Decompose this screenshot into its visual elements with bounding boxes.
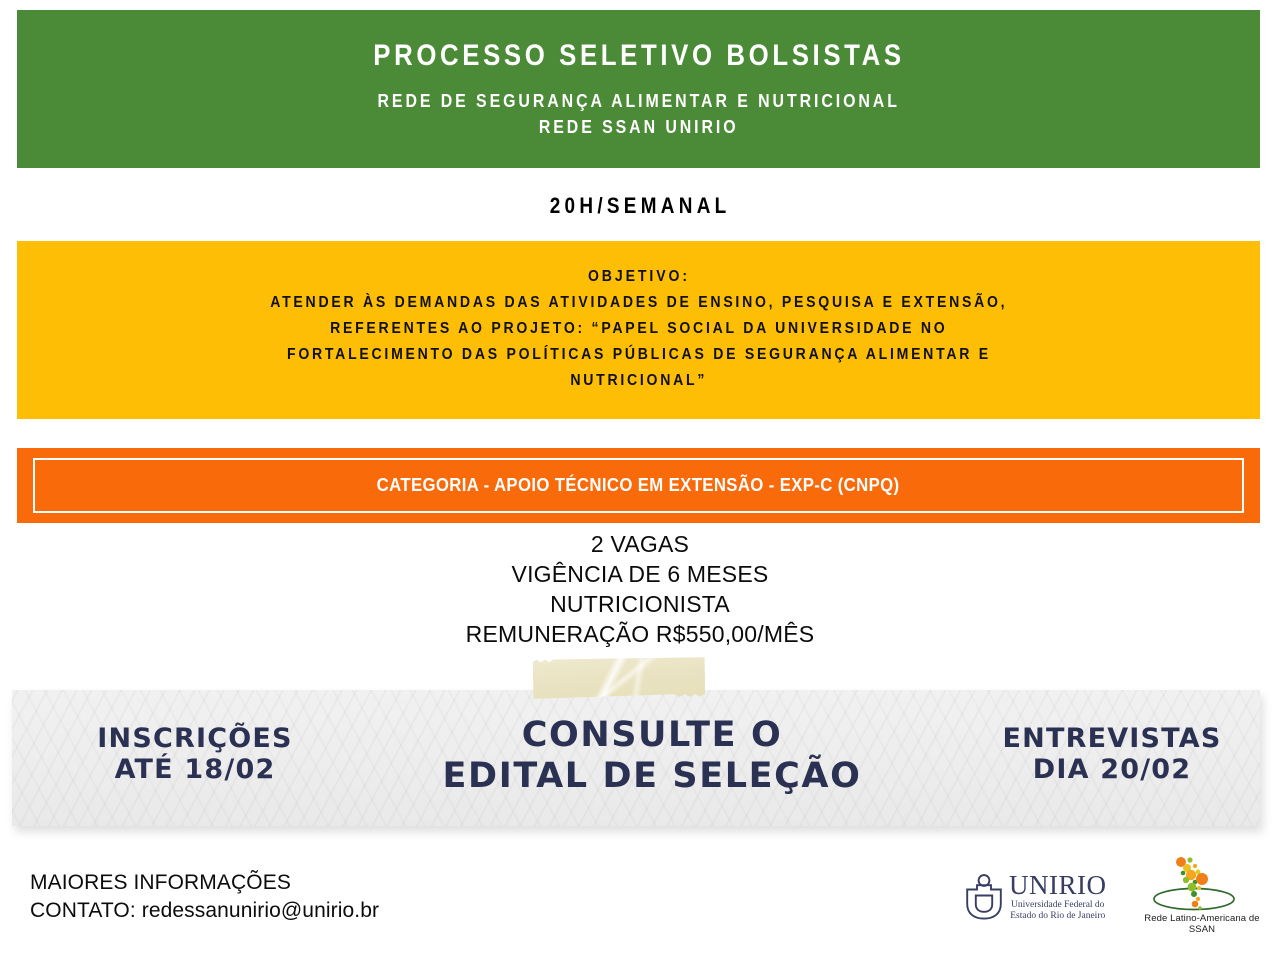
objective-body: ATENDER ÀS DEMANDAS DAS ATIVIDADES DE EN… — [220, 290, 1058, 394]
workload-label: 20H/SEMANAL — [0, 193, 1280, 219]
header-subtitle: REDE DE SEGURANÇA ALIMENTAR E NUTRICIONA… — [377, 88, 899, 141]
masking-tape-crease — [533, 657, 705, 699]
header-subtitle-line-2: REDE SSAN UNIRIO — [377, 114, 899, 140]
unirio-tagline-line-1: Universidade Federal do — [1009, 900, 1107, 911]
unirio-emblem-icon — [963, 873, 1005, 921]
footer-contact-block: MAIORES INFORMAÇÕES CONTATO: redessanuni… — [30, 869, 379, 926]
objective-line-4: NUTRICIONAL” — [220, 368, 1058, 394]
footer-more-info: MAIORES INFORMAÇÕES — [30, 869, 379, 897]
edital-callout-line-2: EDITAL DE SELEÇÃO — [442, 756, 862, 797]
interview-date: DIA 20/02 — [972, 754, 1252, 785]
header-subtitle-line-1: REDE DE SEGURANÇA ALIMENTAR E NUTRICIONA… — [377, 88, 899, 114]
unirio-tagline: Universidade Federal do Estado do Rio de… — [1009, 900, 1107, 922]
unirio-logo: UNIRIO Universidade Federal do Estado do… — [963, 866, 1113, 928]
unirio-tagline-line-2: Estado do Rio de Janeiro — [1009, 911, 1107, 922]
footer-contact-email: CONTATO: redessanunirio@unirio.br — [30, 897, 379, 925]
detail-role: NUTRICIONISTA — [0, 590, 1280, 620]
green-header-banner: PROCESSO SELETIVO BOLSISTAS REDE DE SEGU… — [17, 10, 1260, 168]
unirio-name: UNIRIO — [1009, 872, 1107, 899]
edital-callout-block[interactable]: CONSULTE O EDITAL DE SELEÇÃO — [442, 715, 862, 796]
detail-vacancies: 2 VAGAS — [0, 530, 1280, 560]
interview-label: ENTREVISTAS — [1003, 723, 1222, 754]
workload-text: 20H/SEMANAL — [550, 193, 731, 219]
detail-duration: VIGÊNCIA DE 6 MESES — [0, 560, 1280, 590]
objective-line-2: REFERENTES AO PROJETO: “PAPEL SOCIAL DA … — [220, 316, 1058, 342]
interview-block: ENTREVISTAS DIA 20/02 — [972, 723, 1252, 786]
masking-tape-icon — [533, 657, 705, 699]
category-banner-frame: CATEGORIA - APOIO TÉCNICO EM EXTENSÃO - … — [33, 458, 1244, 513]
objective-line-1: ATENDER ÀS DEMANDAS DAS ATIVIDADES DE EN… — [220, 290, 1058, 316]
registration-date: ATÉ 18/02 — [60, 754, 330, 785]
ssan-network-logo: Rede Latino-Americana de SSAN — [1132, 855, 1272, 935]
objective-label-text: OBJETIVO: — [587, 265, 689, 290]
objective-box: OBJETIVO: ATENDER ÀS DEMANDAS DAS ATIVID… — [17, 241, 1260, 419]
dates-paper-band: INSCRIÇÕES ATÉ 18/02 CONSULTE O EDITAL D… — [12, 690, 1260, 826]
detail-stipend: REMUNERAÇÃO R$550,00/MÊS — [0, 620, 1280, 650]
page-title: PROCESSO SELETIVO BOLSISTAS — [373, 38, 904, 74]
objective-line-3: FORTALECIMENTO DAS POLÍTICAS PÚBLICAS DE… — [220, 342, 1058, 368]
unirio-wordmark: UNIRIO Universidade Federal do Estado do… — [1009, 872, 1107, 922]
registration-deadline-block: INSCRIÇÕES ATÉ 18/02 — [60, 723, 330, 786]
registration-label: INSCRIÇÕES — [97, 723, 292, 754]
latin-america-dots-icon — [1140, 855, 1248, 915]
position-details: 2 VAGAS VIGÊNCIA DE 6 MESES NUTRICIONIST… — [0, 530, 1280, 650]
objective-label: OBJETIVO: — [581, 265, 697, 290]
category-text: CATEGORIA - APOIO TÉCNICO EM EXTENSÃO - … — [377, 475, 900, 496]
category-banner: CATEGORIA - APOIO TÉCNICO EM EXTENSÃO - … — [17, 448, 1260, 523]
ssan-caption: Rede Latino-Americana de SSAN — [1132, 913, 1272, 935]
edital-callout-line-1: CONSULTE O — [522, 715, 783, 755]
